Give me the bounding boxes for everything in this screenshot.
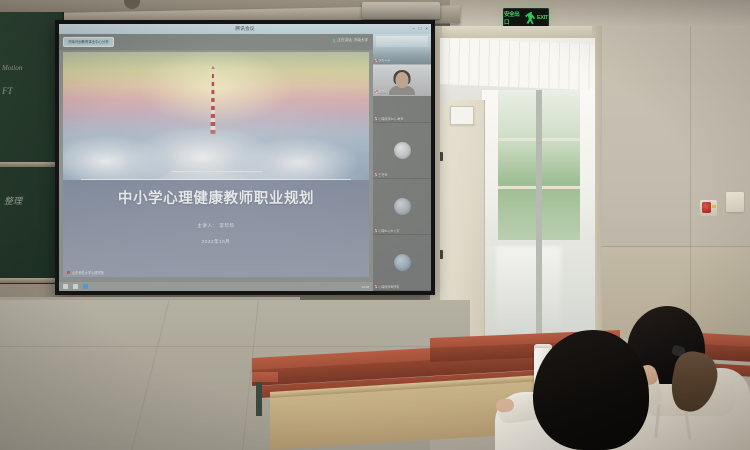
participant-name: 心理健康中心-教师 — [378, 117, 403, 121]
participant-name: 李珍珍 — [378, 90, 387, 94]
minimize-button[interactable]: – — [412, 27, 414, 31]
participant-placeholder-label: ··· — [401, 107, 404, 111]
participant-name-row: 济南大学 — [375, 59, 391, 63]
app-body: 济南可创教育事业中心分享 正在讲话: 济南大学 — [59, 34, 431, 291]
light-switch[interactable] — [726, 192, 744, 212]
door-hinge — [440, 152, 443, 161]
speaking-status-label: 正在讲话: 济南大学 — [337, 38, 368, 43]
chalk-text: FT — [2, 86, 13, 96]
microphone-muted-icon — [375, 285, 377, 288]
ceiling-right — [430, 0, 750, 26]
microphone-icon — [333, 39, 336, 43]
chalk-text: Motion — [2, 64, 22, 72]
participant-name-row: 心理中心办公室 — [375, 229, 400, 233]
projection-screen: 腾讯会议 – □ × 济南可创教育事业中心分享 正在讲话: 济南大学 — [55, 20, 435, 295]
fire-alarm-button[interactable] — [702, 202, 711, 213]
search-icon[interactable] — [73, 284, 78, 289]
participant-row[interactable]: 心理健康教研组 — [373, 235, 431, 291]
corridor-ceiling-panels — [440, 38, 595, 90]
classroom-photo-scene: Panasonic 安全出口 EXIT Motion FT 整理 — [0, 0, 750, 450]
participant-row[interactable]: 王老师 — [373, 123, 431, 179]
avatar — [394, 198, 411, 215]
app-taskbar-icon[interactable] — [83, 284, 88, 289]
exit-sign-english-label: EXIT — [537, 15, 548, 21]
slide-footer-label: 山东师范大学心理学院 — [72, 270, 104, 275]
close-button[interactable]: × — [425, 27, 428, 31]
desk-leg — [256, 376, 262, 416]
start-button-icon[interactable] — [63, 284, 68, 289]
slide-hero-photo — [63, 52, 369, 180]
participant-name: 王老师 — [378, 173, 387, 177]
app-titlebar: 腾讯会议 – □ × — [59, 24, 431, 34]
slide-title: 中小学心理健康教师职业规划 — [63, 187, 369, 208]
slide-footer: 山东师范大学心理学院 — [67, 270, 104, 275]
participant-name: 济南大学 — [378, 59, 390, 63]
stage-topbar: 济南可创教育事业中心分享 正在讲话: 济南大学 — [59, 34, 373, 50]
participant-name-row: 李珍珍 — [375, 90, 388, 94]
avatar — [394, 254, 411, 271]
fire-alarm-led — [712, 205, 716, 208]
participant-name-row: 心理健康中心-教师 — [375, 117, 404, 121]
microphone-muted-icon — [375, 117, 377, 120]
participant-tile[interactable]: 李珍珍 — [373, 65, 431, 96]
app-window-title: 腾讯会议 — [235, 26, 254, 32]
slide-presenter: 主讲人： 李珍珍 — [63, 223, 369, 229]
participants-sidebar[interactable]: 济南大学 李珍珍 ··· — [373, 34, 431, 291]
projector: Panasonic — [362, 2, 440, 19]
exit-sign: 安全出口 EXIT — [503, 8, 549, 28]
presentation-slide: 中小学心理健康教师职业规划 主讲人： 李珍珍 2022年10月 山东师范大学心理… — [63, 52, 369, 277]
slide-divider-ornament — [63, 172, 369, 180]
participant-name-row: 心理健康教研组 — [375, 285, 400, 289]
student-hair — [533, 330, 649, 450]
microphone-muted-icon — [375, 59, 377, 62]
floor-tile-line — [0, 346, 470, 347]
microphone-muted-icon — [375, 90, 377, 93]
slide-date: 2022年10月 — [63, 239, 369, 245]
running-man-icon — [525, 12, 535, 25]
fire-alarm-call-point[interactable] — [700, 200, 717, 216]
participant-tile[interactable]: 济南大学 — [373, 34, 431, 65]
participant-row[interactable]: 心理中心办公室 — [373, 179, 431, 235]
window-controls: – □ × — [412, 24, 428, 34]
door-hinge — [440, 250, 443, 259]
avatar — [394, 142, 411, 159]
microphone-muted-icon — [375, 229, 377, 232]
door-frame-top — [430, 26, 602, 38]
speaking-status: 正在讲话: 济南大学 — [333, 38, 368, 43]
exit-sign-chinese-label: 安全出口 — [504, 10, 523, 26]
participant-row[interactable]: ··· 心理健康中心-教师 — [373, 96, 431, 123]
windows-taskbar[interactable]: 10:28 — [59, 282, 373, 291]
screen-share-badge: 济南可创教育事业中心分享 — [63, 37, 114, 47]
institution-logo-icon — [67, 271, 70, 274]
microphone-muted-icon — [375, 173, 377, 176]
desk-top — [252, 372, 278, 382]
participant-name-row: 王老师 — [375, 173, 388, 177]
maximize-button[interactable]: □ — [419, 27, 422, 31]
chalk-text: 整理 — [4, 194, 22, 207]
corridor-door-frame — [536, 90, 542, 338]
doorway — [440, 38, 595, 338]
wall-seam — [690, 0, 691, 340]
taskbar-clock: 10:28 — [361, 285, 369, 289]
participant-name: 心理健康教研组 — [378, 285, 399, 289]
meeting-stage: 济南可创教育事业中心分享 正在讲话: 济南大学 — [59, 34, 373, 291]
screen-surface: 腾讯会议 – □ × 济南可创教育事业中心分享 正在讲话: 济南大学 — [59, 24, 431, 291]
participant-name: 心理中心办公室 — [378, 229, 399, 233]
door-notice-sign — [450, 106, 474, 125]
